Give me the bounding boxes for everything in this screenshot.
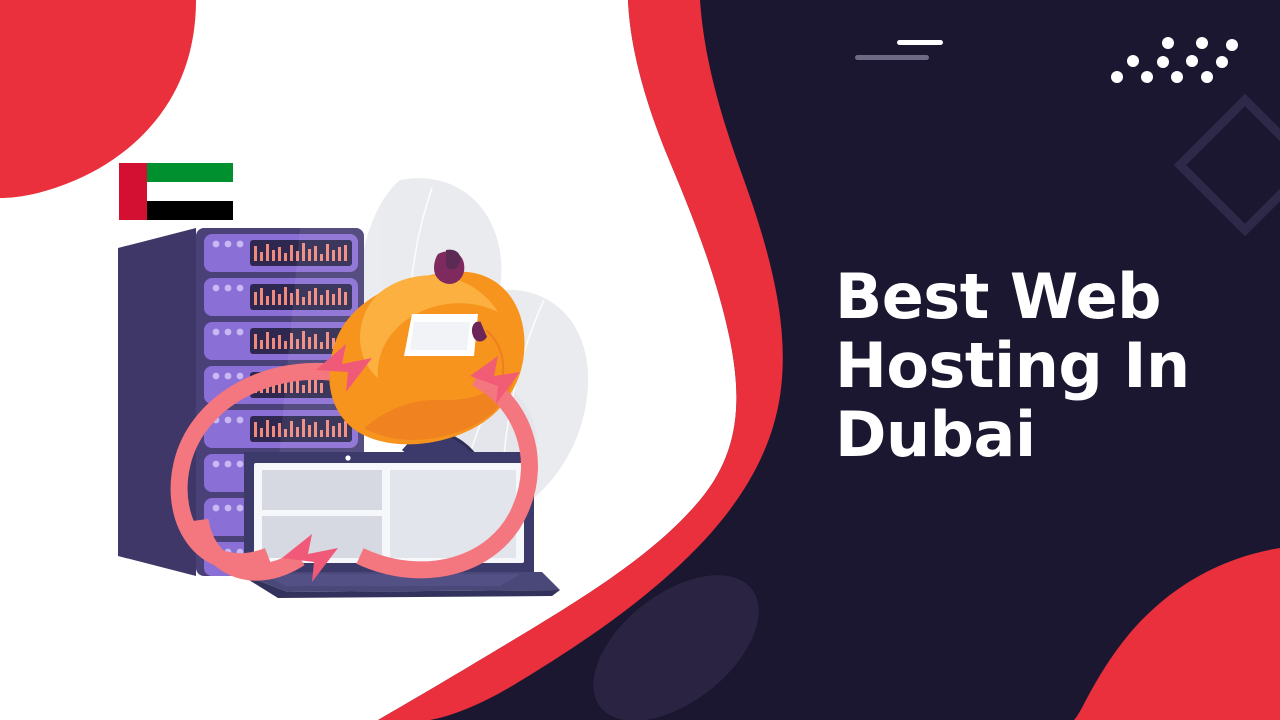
uae-flag xyxy=(119,163,233,220)
hero-banner: Best Web Hosting In Dubai xyxy=(0,0,1280,720)
flag-black-stripe xyxy=(147,201,233,220)
headline-line-2: Hosting In xyxy=(835,331,1235,400)
diamond-outline xyxy=(1180,100,1280,230)
flag-green-stripe xyxy=(147,163,233,182)
flag-red-bar xyxy=(119,163,147,220)
white-dash-line xyxy=(897,40,943,45)
flag-stripes xyxy=(147,163,233,220)
soft-ellipse xyxy=(567,546,785,720)
dot-grid-pattern xyxy=(1111,37,1238,83)
flag-white-stripe xyxy=(147,182,233,201)
page-title: Best Web Hosting In Dubai xyxy=(835,262,1235,469)
headline-line-1: Best Web xyxy=(835,262,1235,331)
gray-dash-line xyxy=(855,55,929,60)
headline-line-3: Dubai xyxy=(835,400,1235,469)
